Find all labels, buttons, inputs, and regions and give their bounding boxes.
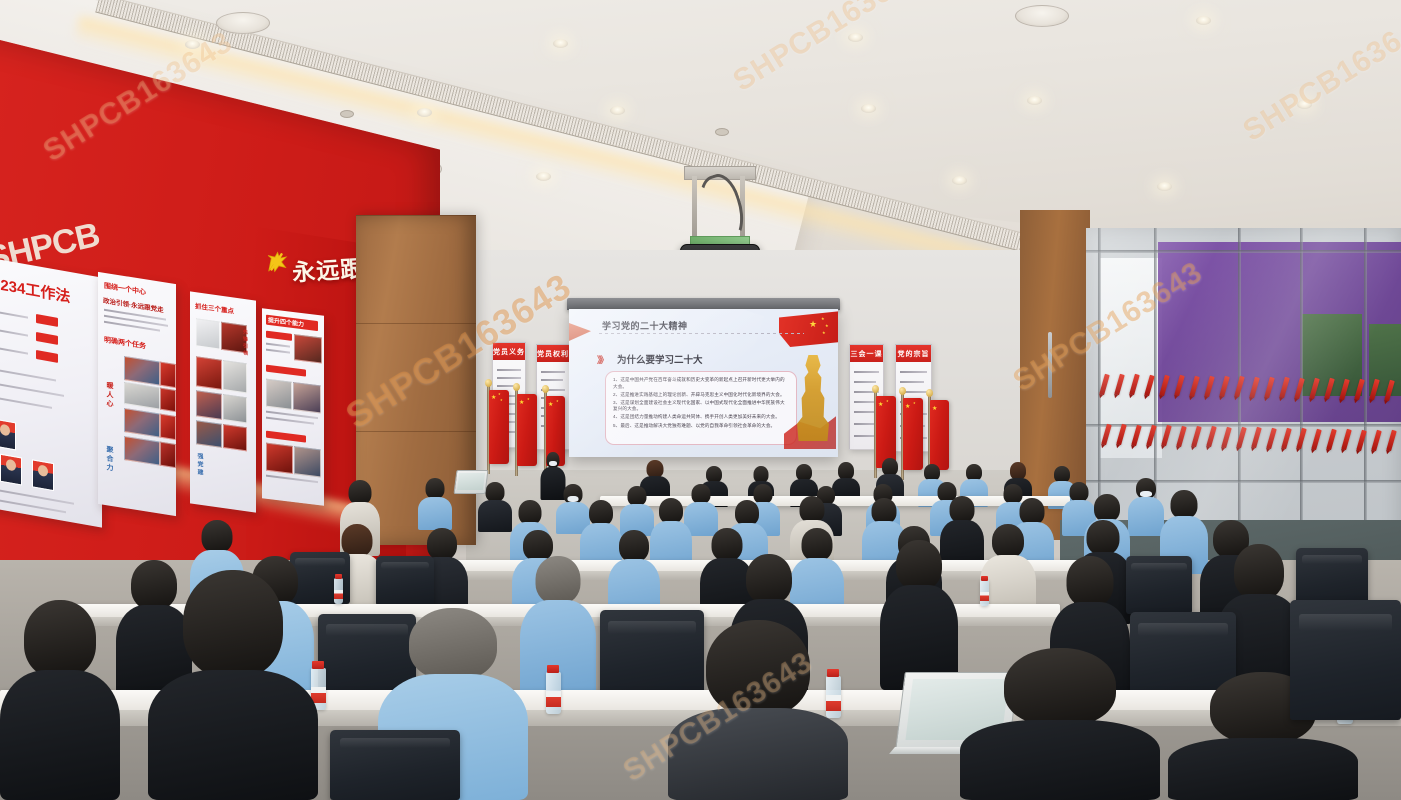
board-text-line bbox=[0, 363, 56, 381]
award-ribbon bbox=[1296, 428, 1307, 450]
award-ribbon bbox=[1326, 429, 1337, 451]
flag-pole-finial-icon bbox=[872, 385, 879, 393]
slide-content-box: 1、这是中国共产党在百年奋斗成就和历史大变革的新起点上召开新时代更大举内的大会。… bbox=[605, 371, 797, 445]
board-photo bbox=[223, 360, 247, 393]
board-photo bbox=[196, 420, 222, 448]
board-sub-tag bbox=[266, 365, 306, 377]
bottle-label bbox=[334, 590, 343, 599]
head bbox=[1094, 494, 1120, 522]
flag-pole-finial-icon bbox=[899, 387, 906, 395]
head bbox=[427, 528, 457, 560]
head bbox=[746, 554, 792, 604]
downlight-icon bbox=[1027, 96, 1042, 105]
head bbox=[1004, 648, 1116, 726]
flag-pole-finial-icon bbox=[513, 383, 520, 391]
torso bbox=[1168, 738, 1358, 800]
panel-text-line bbox=[854, 401, 874, 403]
head bbox=[706, 620, 810, 716]
head bbox=[619, 530, 649, 562]
flag-star-icon: ★ bbox=[809, 320, 817, 329]
board-section-heading: 明确两个任务 bbox=[104, 335, 146, 352]
flag-cloth: ★ ★ bbox=[517, 394, 537, 466]
water-bottle bbox=[334, 578, 343, 604]
downlight-icon bbox=[848, 33, 863, 42]
sprinkler-head-icon bbox=[340, 110, 354, 118]
flag-star-icon: ★ bbox=[913, 402, 916, 405]
glass-mullion bbox=[1364, 228, 1367, 558]
flag-star-icon: ★ bbox=[886, 400, 889, 403]
head bbox=[1087, 520, 1120, 555]
award-ribbon bbox=[1191, 426, 1202, 448]
lift-rail bbox=[692, 176, 697, 242]
board-photo bbox=[223, 424, 247, 451]
board-text-line bbox=[0, 391, 52, 408]
board-text-line bbox=[266, 349, 290, 354]
bottle-cap-icon bbox=[547, 665, 559, 673]
award-ribbon bbox=[1341, 429, 1352, 451]
downlight-icon bbox=[861, 104, 876, 113]
chinese-flag: ★ ★ ★ bbox=[487, 386, 511, 474]
award-ribbon bbox=[1161, 425, 1172, 447]
board-photo bbox=[266, 379, 292, 410]
head bbox=[628, 486, 647, 506]
torso bbox=[960, 720, 1160, 800]
board-photo bbox=[293, 382, 321, 413]
glass-door-handle[interactable] bbox=[1048, 332, 1052, 398]
slide-chinese-flag-graphic: ★ ★ ★ ★ bbox=[779, 311, 838, 347]
head bbox=[896, 540, 942, 590]
flag-star-icon: ★ bbox=[878, 402, 883, 408]
board-sub-tag bbox=[266, 331, 292, 341]
attendee bbox=[418, 478, 452, 530]
water-bottle bbox=[980, 580, 989, 606]
head bbox=[183, 570, 283, 678]
board-text-line bbox=[0, 328, 28, 336]
board-photo bbox=[124, 382, 160, 410]
downlight-icon bbox=[553, 39, 568, 48]
member-portrait bbox=[0, 454, 22, 486]
flag-star-icon: ★ bbox=[821, 317, 825, 321]
head bbox=[950, 496, 975, 523]
attendee bbox=[148, 570, 318, 800]
exhibition-board-main: 党建1234工作法 bbox=[0, 254, 102, 527]
member-portrait bbox=[0, 419, 16, 451]
board-photo bbox=[266, 443, 293, 474]
slide-bullet: 5、最后、这是推动解决大党独有难题、以党的自我革命引领社会革命的大会。 bbox=[613, 423, 789, 430]
board-text-line bbox=[0, 346, 28, 354]
slide-bullet: 3、这是谋划全面建设社会主义现代化国家、以中国式现代化全面推进中华民族伟大复兴的… bbox=[613, 400, 789, 413]
board-vertical-label: 暖人心 bbox=[104, 381, 114, 410]
board-tag bbox=[36, 314, 58, 327]
panel-text-line bbox=[900, 371, 927, 373]
head bbox=[1067, 556, 1114, 607]
slide-bullet: 1、这是中国共产党在百年奋斗成就和历史大变革的新起点上召开新时代更大举内的大会。 bbox=[613, 377, 789, 390]
flag-star-icon: ★ bbox=[500, 399, 503, 402]
flag-star-icon: ★ bbox=[556, 400, 559, 403]
board-sub-tag bbox=[266, 431, 306, 443]
panel-heading: 三会一课 bbox=[850, 345, 883, 362]
slide-chevron-icon: 》》 bbox=[597, 353, 607, 366]
exhibition-board-center: 围绕一个中心 政治引领·永远跟党走 明确两个任务 暖人心 聚合力 bbox=[98, 272, 176, 516]
slide-divider bbox=[599, 333, 804, 334]
head bbox=[992, 524, 1024, 558]
head bbox=[202, 520, 233, 553]
panel-text-line bbox=[541, 371, 565, 373]
downlight-icon bbox=[536, 172, 551, 181]
chair[interactable] bbox=[330, 730, 460, 800]
board-title: 党建1234工作法 bbox=[0, 267, 70, 307]
chinese-flag: ★ ★ bbox=[515, 390, 539, 476]
head bbox=[409, 608, 497, 680]
board-photo bbox=[160, 362, 176, 389]
board-text-line bbox=[266, 417, 314, 424]
board-vertical-label: 聚合力 bbox=[104, 445, 114, 474]
award-ribbon bbox=[1221, 427, 1232, 449]
head bbox=[486, 482, 505, 502]
attendee bbox=[880, 540, 958, 690]
board-photo bbox=[294, 334, 322, 363]
chair[interactable] bbox=[1290, 600, 1401, 720]
torso bbox=[0, 670, 120, 800]
torso bbox=[418, 497, 452, 530]
chair[interactable] bbox=[1126, 556, 1192, 614]
board-vertical-label: 先锋引领 bbox=[242, 329, 249, 358]
laptop[interactable] bbox=[455, 470, 485, 492]
flag-star-icon: ★ bbox=[498, 393, 501, 396]
flag-cloth: ★ bbox=[930, 400, 949, 470]
water-bottle bbox=[546, 672, 561, 714]
panel-heading: 党的宗旨 bbox=[896, 345, 931, 362]
board-photo bbox=[196, 390, 222, 420]
ceiling-speaker-icon bbox=[1015, 5, 1069, 27]
slide-subtitle: 为什么要学习二十大 bbox=[617, 352, 703, 366]
downlight-icon bbox=[952, 176, 967, 185]
panel-text-line bbox=[854, 381, 876, 383]
panel-text-line bbox=[854, 371, 879, 373]
chair[interactable] bbox=[376, 556, 434, 606]
slide-bullet: 2、这是推进实践基础上的理论创新、开辟马克思主义中国化时代化新境界的大会。 bbox=[613, 392, 789, 399]
attendee bbox=[620, 486, 654, 536]
head bbox=[1171, 490, 1198, 519]
head bbox=[692, 484, 711, 504]
chair[interactable] bbox=[1296, 548, 1368, 608]
head bbox=[536, 556, 581, 604]
head bbox=[24, 600, 96, 678]
torso bbox=[668, 708, 848, 800]
ceiling-speaker-icon bbox=[216, 12, 270, 34]
downlight-icon bbox=[610, 106, 625, 115]
cpc-party-emblem-icon bbox=[261, 247, 294, 280]
slide-title: 学习党的二十大精神 bbox=[602, 319, 688, 332]
award-ribbon bbox=[1176, 426, 1187, 448]
slide-bullet: 4、这是团结力量推动构建人类命运共同体、携手开创人类更加美好未来的大会。 bbox=[613, 414, 789, 421]
glass-mullion bbox=[1086, 250, 1401, 253]
flag-star-icon: ★ bbox=[527, 398, 530, 401]
downlight-icon bbox=[1297, 100, 1312, 109]
slide-gold-statue-graphic bbox=[794, 355, 832, 441]
board-vertical-label: 强党建 bbox=[195, 452, 204, 477]
award-ribbon bbox=[1386, 430, 1397, 452]
flag-cloth: ★ ★ bbox=[903, 398, 923, 470]
torso bbox=[148, 670, 318, 800]
attendee bbox=[960, 648, 1160, 800]
head bbox=[1020, 498, 1045, 525]
flag-star-icon: ★ bbox=[491, 395, 496, 401]
head bbox=[800, 496, 825, 523]
panel-text-line bbox=[541, 379, 563, 381]
flag-star-icon: ★ bbox=[548, 402, 553, 408]
panel-text-line bbox=[900, 381, 924, 383]
downlight-icon bbox=[417, 108, 432, 117]
board-text-line bbox=[266, 343, 290, 348]
attendee bbox=[0, 600, 120, 800]
board-photo bbox=[124, 436, 160, 466]
panel-heading: 党员义务 bbox=[493, 343, 525, 360]
award-ribbon bbox=[1251, 427, 1262, 449]
award-ribbon bbox=[1371, 430, 1382, 452]
flag-pole-finial-icon bbox=[485, 379, 492, 387]
award-ribbon bbox=[1311, 429, 1322, 451]
board-photo bbox=[160, 442, 176, 469]
panel-text-line bbox=[497, 377, 521, 379]
downlight-icon bbox=[1196, 16, 1211, 25]
flag-star-icon: ★ bbox=[905, 404, 910, 410]
flag-star-icon: ★ bbox=[822, 331, 826, 335]
face-mask-icon bbox=[549, 461, 557, 466]
bottle-cap-icon bbox=[981, 576, 988, 581]
board-photo bbox=[160, 388, 176, 413]
panel-heading: 党员权利 bbox=[537, 345, 569, 362]
attendee bbox=[668, 620, 848, 800]
award-ribbon bbox=[1281, 428, 1292, 450]
flag-pole-finial-icon bbox=[542, 385, 549, 393]
laptop-screen bbox=[454, 470, 489, 494]
panel-text-line bbox=[497, 369, 521, 371]
board-photo bbox=[223, 394, 247, 423]
board-tag bbox=[36, 350, 58, 363]
exhibition-board-capability: 提升四个能力 bbox=[262, 308, 324, 506]
sprinkler-head-icon bbox=[715, 128, 729, 136]
flag-star-icon: ★ bbox=[932, 406, 937, 412]
board-photo bbox=[160, 414, 176, 441]
head bbox=[1234, 544, 1284, 600]
board-photo bbox=[196, 318, 220, 349]
flag-pole-finial-icon bbox=[926, 389, 933, 397]
downlight-icon bbox=[1157, 182, 1172, 191]
torso bbox=[1128, 497, 1164, 536]
member-portrait bbox=[32, 459, 54, 491]
board-photo bbox=[196, 356, 222, 390]
flag-cloth: ★ ★ ★ bbox=[489, 390, 509, 464]
board-photo bbox=[124, 408, 160, 438]
attendee bbox=[1128, 478, 1164, 536]
flag-star-icon: ★ bbox=[825, 324, 829, 328]
exhibition-board-focus: 抓住三个重点 先锋引领 强党建 bbox=[190, 291, 256, 512]
bottle-label bbox=[980, 592, 989, 601]
award-ribbon bbox=[1266, 428, 1277, 450]
bottle-label bbox=[546, 691, 561, 707]
board-photo bbox=[294, 446, 321, 477]
board-photo bbox=[124, 356, 160, 386]
torso bbox=[478, 500, 512, 532]
board-text-line bbox=[0, 310, 28, 318]
projection-screen[interactable]: ★ ★ ★ ★ 学习党的二十大精神 》》 为什么要学习二十大 1、这是中国共产党… bbox=[569, 309, 838, 457]
board-section-heading: 抓住三个重点 bbox=[195, 300, 234, 315]
slide-accent-tab bbox=[569, 323, 591, 341]
head bbox=[426, 478, 445, 499]
meeting-room-photo: SHPCB 永远跟党走 党建1234工作法 围绕一个中心 政治引领·永远跟党走 … bbox=[0, 0, 1401, 800]
bottle-cap-icon bbox=[335, 574, 342, 579]
flag-star-icon: ★ bbox=[519, 400, 524, 406]
downlight-icon bbox=[185, 40, 200, 49]
award-ribbon bbox=[1206, 426, 1217, 448]
board-tag bbox=[36, 332, 58, 345]
